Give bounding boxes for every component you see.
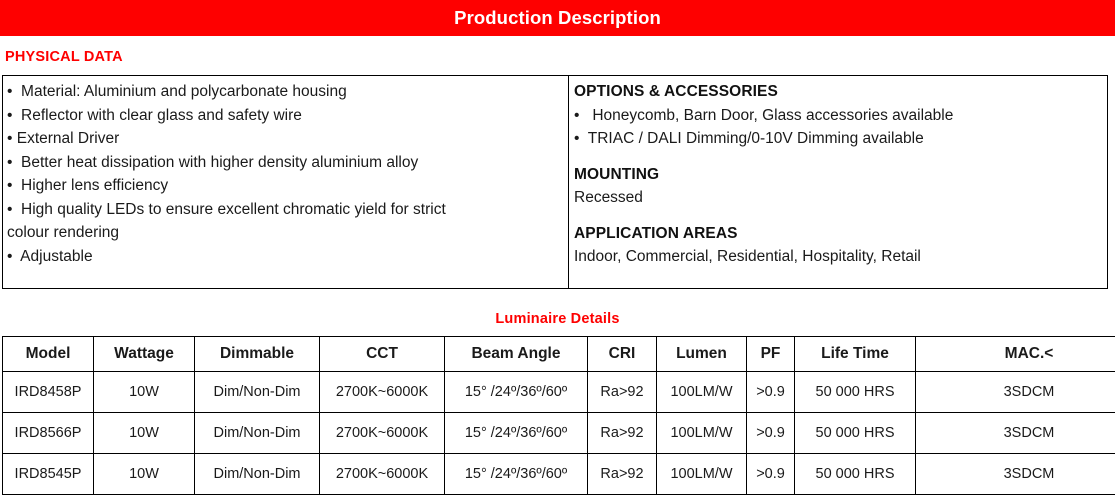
column-header-life-time: Life Time xyxy=(795,337,916,372)
cell-cct: 2700K~6000K xyxy=(320,372,445,413)
column-header-wattage: Wattage xyxy=(94,337,195,372)
cell-model: IRD8545P xyxy=(3,454,94,495)
application-areas-value: Indoor, Commercial, Residential, Hospita… xyxy=(574,245,1103,269)
physical-data-caption: PHYSICAL DATA xyxy=(5,49,123,65)
cell-mac: 3SDCM xyxy=(916,413,1115,454)
cell-cct: 2700K~6000K xyxy=(320,454,445,495)
cell-dimmable: Dim/Non-Dim xyxy=(195,454,320,495)
spacer xyxy=(574,151,1103,163)
mounting-value: Recessed xyxy=(574,186,1103,210)
cell-wattage: 10W xyxy=(94,372,195,413)
cell-life-time: 50 000 HRS xyxy=(795,454,916,495)
table-row: IRD8566P 10W Dim/Non-Dim 2700K~6000K 15°… xyxy=(3,413,1115,454)
cell-dimmable: Dim/Non-Dim xyxy=(195,413,320,454)
cell-model: IRD8458P xyxy=(3,372,94,413)
cell-cri: Ra>92 xyxy=(588,413,657,454)
column-header-mac: MAC.< xyxy=(916,337,1115,372)
table-row: IRD8545P 10W Dim/Non-Dim 2700K~6000K 15°… xyxy=(3,454,1115,495)
column-header-lumen: Lumen xyxy=(657,337,747,372)
list-item: • Reflector with clear glass and safety … xyxy=(7,104,564,128)
cell-model: IRD8566P xyxy=(3,413,94,454)
luminaire-details-caption: Luminaire Details xyxy=(0,311,1115,327)
column-header-beam-angle: Beam Angle xyxy=(445,337,588,372)
cell-cct: 2700K~6000K xyxy=(320,413,445,454)
cell-life-time: 50 000 HRS xyxy=(795,372,916,413)
cell-mac: 3SDCM xyxy=(916,372,1115,413)
list-item: • Honeycomb, Barn Door, Glass accessorie… xyxy=(574,104,1103,128)
table-row: IRD8458P 10W Dim/Non-Dim 2700K~6000K 15°… xyxy=(3,372,1115,413)
cell-beam-angle: 15° /24º/36º/60º xyxy=(445,372,588,413)
column-header-dimmable: Dimmable xyxy=(195,337,320,372)
production-description-header: Production Description xyxy=(0,0,1115,36)
list-item: • External Driver xyxy=(7,127,564,151)
column-header-cri: CRI xyxy=(588,337,657,372)
options-accessories-heading: OPTIONS & ACCESSORIES xyxy=(574,80,1103,104)
cell-cri: Ra>92 xyxy=(588,372,657,413)
column-header-cct: CCT xyxy=(320,337,445,372)
list-item: • Adjustable xyxy=(7,245,564,269)
column-header-model: Model xyxy=(3,337,94,372)
mounting-heading: MOUNTING xyxy=(574,163,1103,187)
column-header-pf: PF xyxy=(747,337,795,372)
cell-beam-angle: 15° /24º/36º/60º xyxy=(445,454,588,495)
cell-pf: >0.9 xyxy=(747,454,795,495)
specification-box: • Material: Aluminium and polycarbonate … xyxy=(2,75,1108,289)
spacer xyxy=(574,210,1103,222)
cell-life-time: 50 000 HRS xyxy=(795,413,916,454)
list-item-continuation: colour rendering xyxy=(7,221,564,245)
cell-beam-angle: 15° /24º/36º/60º xyxy=(445,413,588,454)
page-title: Production Description xyxy=(454,7,661,29)
options-mounting-column: OPTIONS & ACCESSORIES • Honeycomb, Barn … xyxy=(569,76,1107,288)
cell-lumen: 100LM/W xyxy=(657,454,747,495)
list-item: • Better heat dissipation with higher de… xyxy=(7,151,564,175)
list-item: • TRIAC / DALI Dimming/0-10V Dimming ava… xyxy=(574,127,1103,151)
list-item: • High quality LEDs to ensure excellent … xyxy=(7,198,564,222)
cell-pf: >0.9 xyxy=(747,372,795,413)
cell-wattage: 10W xyxy=(94,454,195,495)
cell-lumen: 100LM/W xyxy=(657,413,747,454)
cell-lumen: 100LM/W xyxy=(657,372,747,413)
cell-wattage: 10W xyxy=(94,413,195,454)
list-item: • Higher lens efficiency xyxy=(7,174,564,198)
table-header-row: Model Wattage Dimmable CCT Beam Angle CR… xyxy=(3,337,1115,372)
cell-pf: >0.9 xyxy=(747,413,795,454)
physical-data-column: • Material: Aluminium and polycarbonate … xyxy=(3,76,569,288)
cell-mac: 3SDCM xyxy=(916,454,1115,495)
cell-cri: Ra>92 xyxy=(588,454,657,495)
luminaire-details-table: Model Wattage Dimmable CCT Beam Angle CR… xyxy=(2,336,1115,495)
application-areas-heading: APPLICATION AREAS xyxy=(574,222,1103,246)
list-item: • Material: Aluminium and polycarbonate … xyxy=(7,80,564,104)
cell-dimmable: Dim/Non-Dim xyxy=(195,372,320,413)
